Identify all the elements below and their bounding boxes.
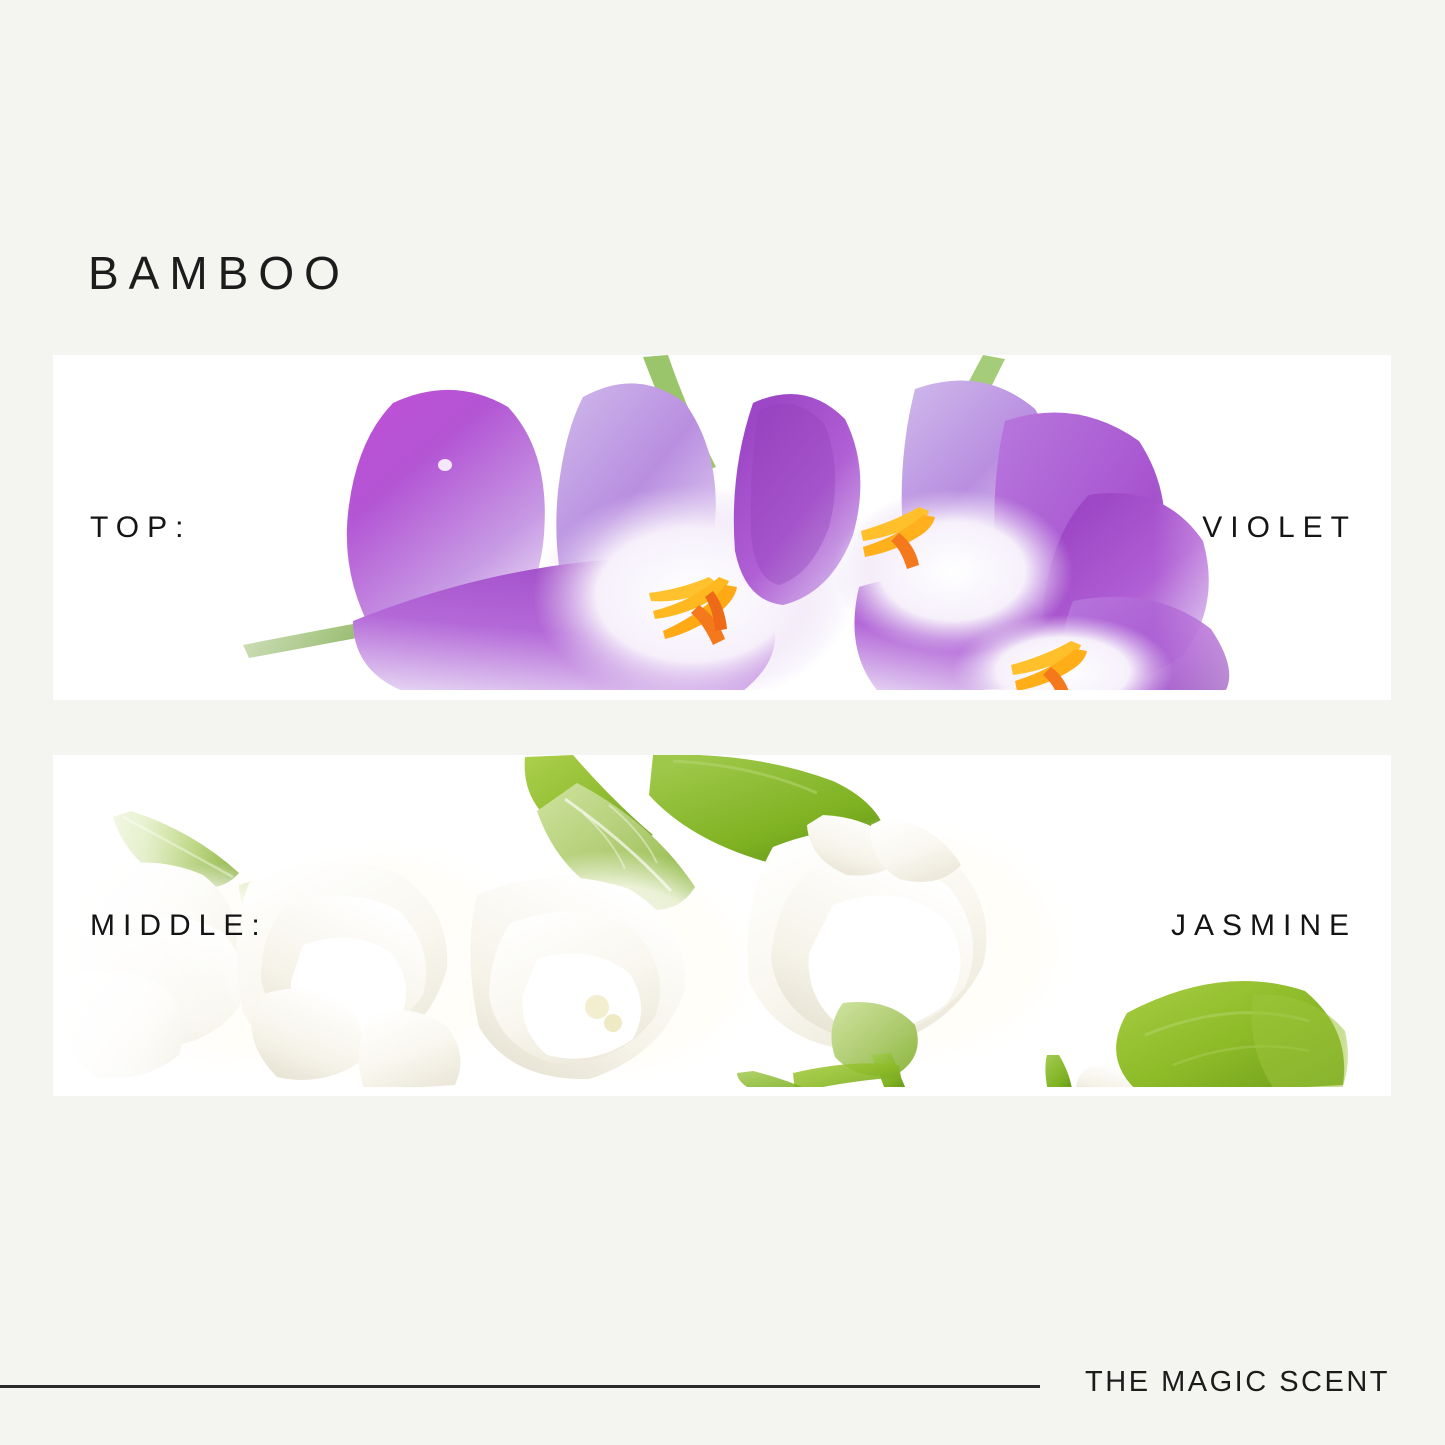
violet-flower-illustration bbox=[53, 355, 1391, 700]
footer-brand-name: THE MAGIC SCENT bbox=[1085, 1368, 1390, 1397]
footer-divider bbox=[0, 1385, 1040, 1388]
note-value-middle: JASMINE bbox=[1171, 911, 1357, 941]
note-band-top: TOP: VIOLET bbox=[53, 355, 1391, 700]
note-label-middle: MIDDLE: bbox=[90, 911, 268, 941]
note-band-middle: MIDDLE: JASMINE bbox=[53, 755, 1391, 1096]
note-label-top: TOP: bbox=[90, 513, 191, 543]
note-value-top: VIOLET bbox=[1202, 513, 1357, 543]
product-scent-notes-card: BAMBOO bbox=[0, 0, 1445, 1445]
page-title: BAMBOO bbox=[88, 250, 350, 296]
violet-flower-photo bbox=[53, 355, 1391, 700]
